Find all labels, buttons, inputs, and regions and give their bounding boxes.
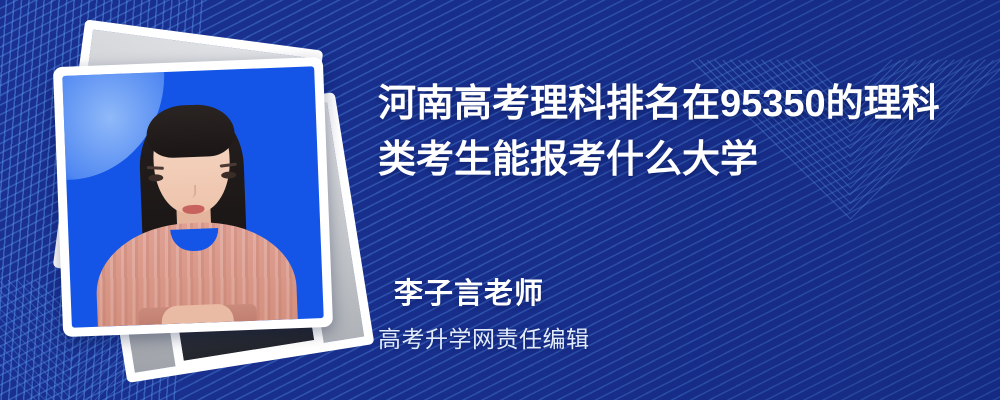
portrait-figure [89, 87, 298, 327]
article-cover-banner: 河南高考理科排名在95350的理科 类考生能报考什么大学 李子言老师 高考升学网… [0, 0, 1000, 400]
hair-front [146, 103, 236, 158]
hands [161, 304, 234, 325]
author-photo [62, 66, 323, 327]
eye-right [148, 174, 163, 182]
author-name: 李子言老师 [394, 270, 544, 312]
author-role: 高考升学网责任编辑 [378, 320, 590, 354]
photo-stack [46, 40, 346, 345]
nose [189, 185, 196, 198]
author-photo-frame [53, 57, 333, 337]
text-content: 河南高考理科排名在95350的理科 类考生能报考什么大学 李子言老师 高考升学网… [378, 0, 978, 400]
banner-title-line-2: 类考生能报考什么大学 [378, 139, 758, 181]
banner-title-line-1: 河南高考理科排名在95350的理科 [378, 83, 940, 125]
banner-title: 河南高考理科排名在95350的理科 类考生能报考什么大学 [378, 76, 964, 188]
